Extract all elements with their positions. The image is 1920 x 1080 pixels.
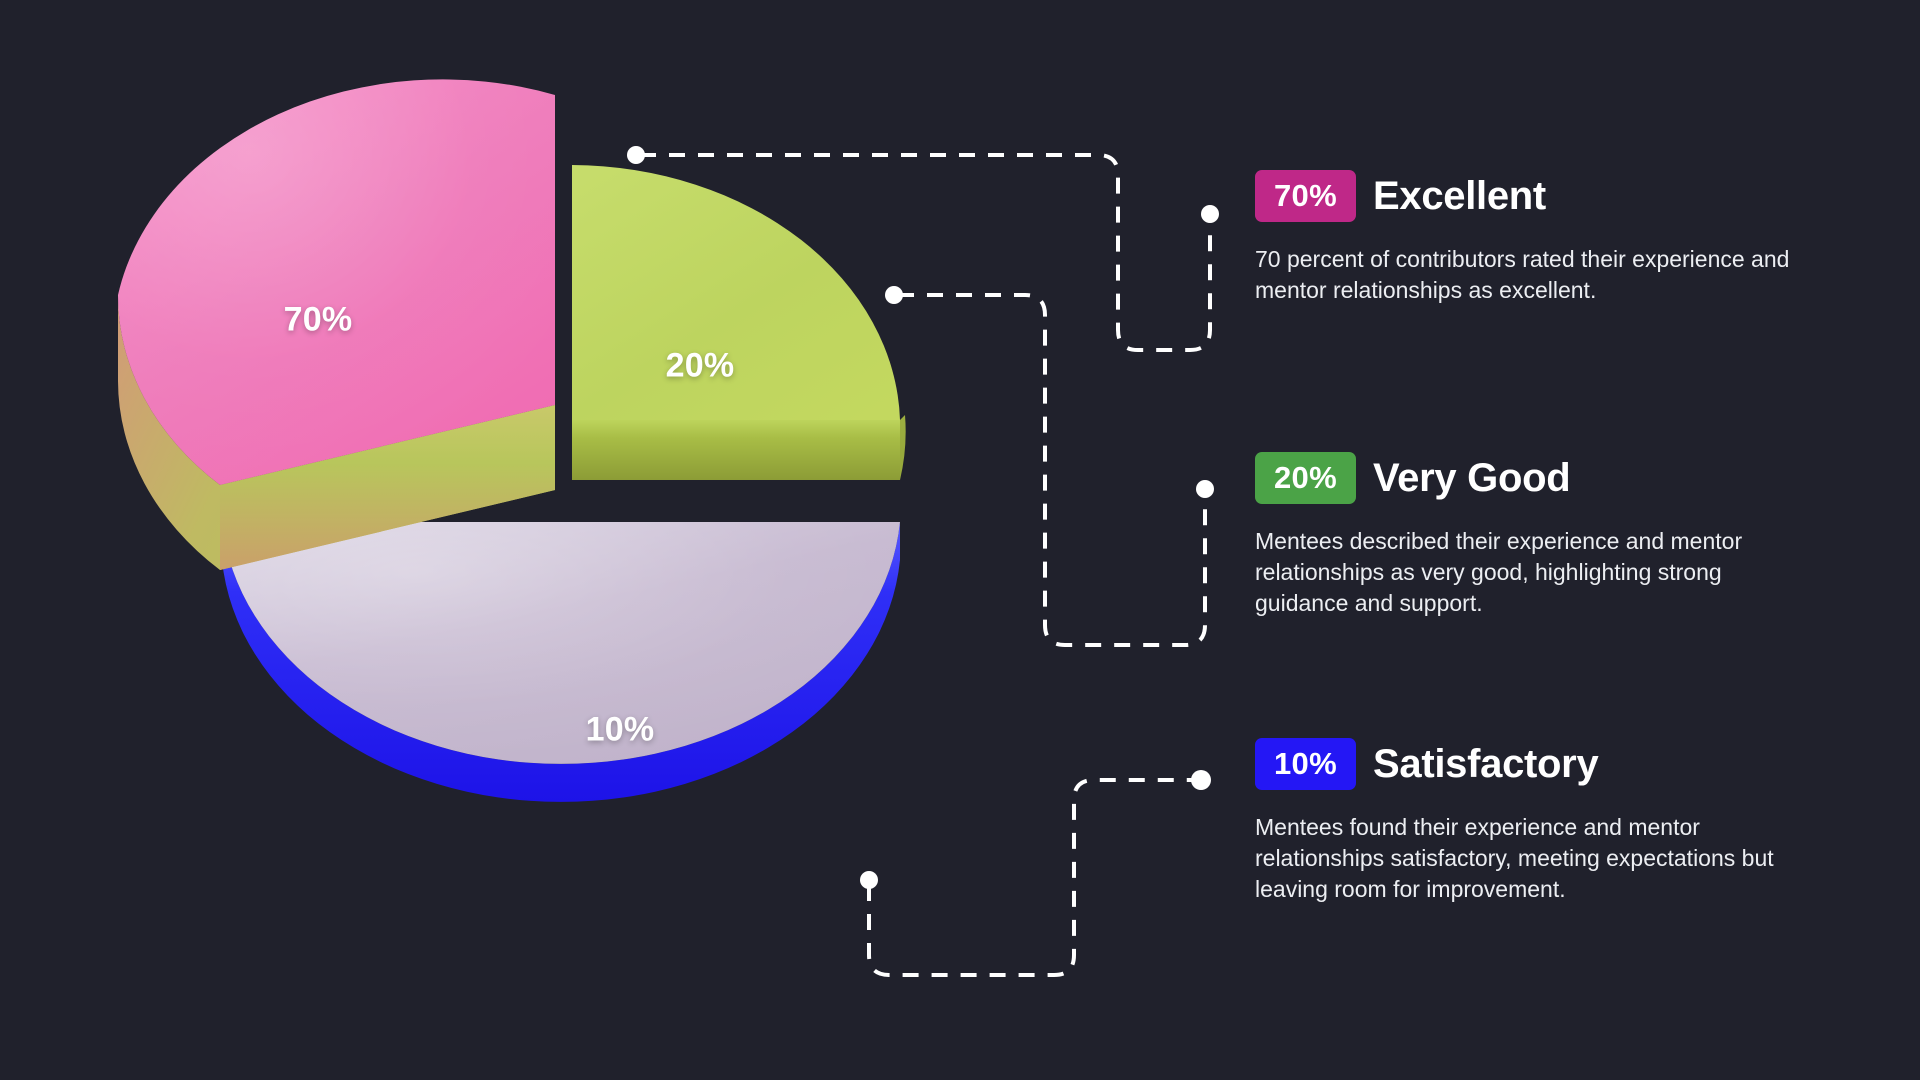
legend-badge-very-good: 20%	[1255, 452, 1356, 504]
connector-dot-very-good-end	[1196, 480, 1214, 498]
legend-head-excellent: 70% Excellent	[1255, 170, 1855, 222]
pie-slice-excellent[interactable]	[118, 79, 555, 570]
slice-sheen-satisfactory	[222, 522, 900, 764]
legend-title-very-good: Very Good	[1373, 458, 1570, 498]
legend-item-excellent[interactable]: 70% Excellent 70 percent of contributors…	[1255, 170, 1855, 306]
slice-side-very-good-front	[572, 420, 900, 480]
slice-top-very-good	[572, 165, 900, 420]
legend-item-very-good[interactable]: 20% Very Good Mentees described their ex…	[1255, 452, 1855, 619]
pie-chart-svg	[0, 0, 1000, 1080]
pie-slice-very-good[interactable]	[572, 165, 906, 480]
legend-description-very-good: Mentees described their experience and m…	[1255, 526, 1815, 619]
pie-chart: 70% 20% 10%	[0, 0, 1000, 1080]
legend-head-satisfactory: 10% Satisfactory	[1255, 738, 1855, 790]
legend-description-excellent: 70 percent of contributors rated their e…	[1255, 244, 1815, 306]
legend-title-satisfactory: Satisfactory	[1373, 744, 1598, 784]
legend-head-very-good: 20% Very Good	[1255, 452, 1855, 504]
infographic-canvas: 70% 20% 10% 70% Excellent 70 percent	[0, 0, 1920, 1080]
legend-badge-excellent: 70%	[1255, 170, 1356, 222]
legend-item-satisfactory[interactable]: 10% Satisfactory Mentees found their exp…	[1255, 738, 1855, 905]
legend-title-excellent: Excellent	[1373, 176, 1546, 216]
connector-dot-excellent-end	[1201, 205, 1219, 223]
connector-dot-satisfactory-end	[1191, 770, 1211, 790]
legend-description-satisfactory: Mentees found their experience and mento…	[1255, 812, 1815, 905]
legend-badge-satisfactory: 10%	[1255, 738, 1356, 790]
pie-slice-satisfactory[interactable]	[222, 522, 900, 802]
